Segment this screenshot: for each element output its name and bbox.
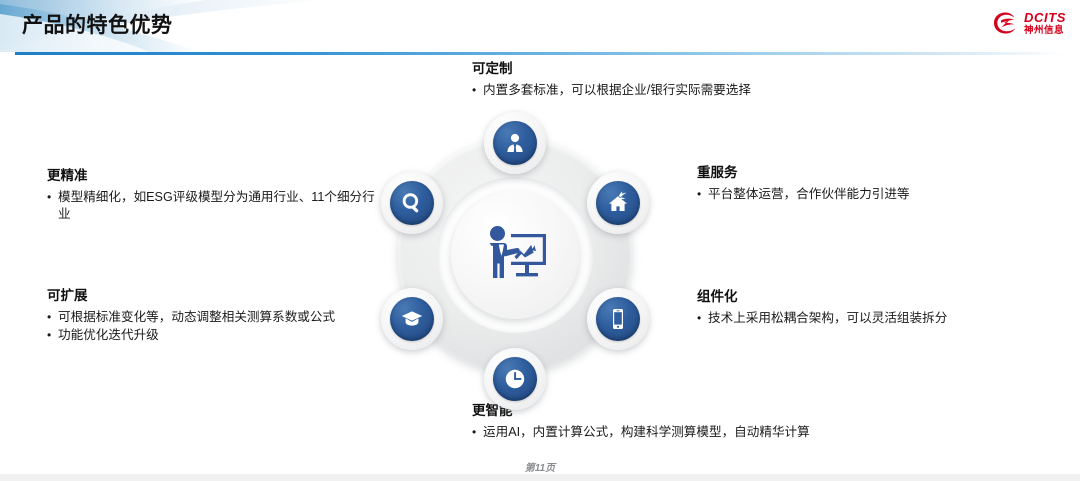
page-number: 第11页 xyxy=(0,459,1080,474)
feature-bullet: • 运用AI，内置计算公式，构建科学测算模型，自动精华计算 xyxy=(472,424,912,442)
diagram-node-graduation[interactable] xyxy=(381,288,443,350)
feature-block-accurate: 更精准 • 模型精细化，如ESG评级模型分为通用行业、11个细分行业 xyxy=(47,167,377,224)
node-circle xyxy=(493,357,537,401)
dcits-swoosh-icon xyxy=(993,11,1019,35)
clock-icon xyxy=(503,367,527,391)
feature-bullet: • 技术上采用松耦合架构，可以灵活组装拆分 xyxy=(697,310,1007,328)
feature-bullet-text: 运用AI，内置计算公式，构建科学测算模型，自动精华计算 xyxy=(483,424,912,442)
logo-en-text: DCITS xyxy=(1024,11,1066,24)
diagram-node-search[interactable] xyxy=(381,172,443,234)
feature-bullet-text: 平台整体运营，合作伙伴能力引进等 xyxy=(708,186,987,204)
diagram-center-hub xyxy=(451,191,579,319)
feature-title: 组件化 xyxy=(697,288,1007,306)
company-logo: DCITS 神州信息 xyxy=(993,8,1066,38)
feature-title: 更精准 xyxy=(47,167,377,185)
feature-title: 可扩展 xyxy=(47,287,377,305)
feature-title: 更智能 xyxy=(472,402,912,420)
feature-block-smart: 更智能 • 运用AI，内置计算公式，构建科学测算模型，自动精华计算 xyxy=(472,402,912,441)
footer-band xyxy=(0,474,1080,481)
feature-bullet: • 功能优化迭代升级 xyxy=(47,327,377,345)
node-circle xyxy=(596,297,640,341)
slide-header: 产品的特色优势 DCITS 神州信息 xyxy=(0,0,1080,58)
node-circle xyxy=(596,181,640,225)
page-title: 产品的特色优势 xyxy=(22,9,173,39)
diagram-node-clock[interactable] xyxy=(484,348,546,410)
header-divider xyxy=(15,52,1065,55)
smartphone-icon xyxy=(606,307,630,331)
node-circle xyxy=(493,121,537,165)
bullet-marker-icon: • xyxy=(47,327,58,344)
magnifier-icon xyxy=(400,191,424,215)
feature-bullet: • 平台整体运营，合作伙伴能力引进等 xyxy=(697,186,987,204)
diagram-node-home[interactable] xyxy=(587,172,649,234)
feature-bullet: • 内置多套标准，可以根据企业/银行实际需要选择 xyxy=(472,82,892,100)
diagram-node-person[interactable] xyxy=(484,112,546,174)
feature-bullet-text: 内置多套标准，可以根据企业/银行实际需要选择 xyxy=(483,82,892,100)
feature-bullet-text: 功能优化迭代升级 xyxy=(58,327,377,345)
feature-title: 重服务 xyxy=(697,164,987,182)
bullet-marker-icon: • xyxy=(472,424,483,441)
feature-bullet: • 模型精细化，如ESG评级模型分为通用行业、11个细分行业 xyxy=(47,189,377,225)
bullet-marker-icon: • xyxy=(47,189,58,206)
feature-bullet-text: 模型精细化，如ESG评级模型分为通用行业、11个细分行业 xyxy=(58,189,377,225)
feature-bullet-text: 技术上采用松耦合架构，可以灵活组装拆分 xyxy=(708,310,1007,328)
feature-block-service: 重服务 • 平台整体运营，合作伙伴能力引进等 xyxy=(697,164,987,203)
feature-bullet: • 可根据标准变化等，动态调整相关测算系数或公式 xyxy=(47,309,377,327)
node-circle xyxy=(390,181,434,225)
feature-bullet-text: 可根据标准变化等，动态调整相关测算系数或公式 xyxy=(58,309,377,327)
feature-block-extensible: 可扩展 • 可根据标准变化等，动态调整相关测算系数或公式 • 功能优化迭代升级 xyxy=(47,287,377,345)
node-circle xyxy=(390,297,434,341)
graduation-cap-icon xyxy=(400,307,424,331)
feature-block-modular: 组件化 • 技术上采用松耦合架构，可以灵活组装拆分 xyxy=(697,288,1007,327)
bullet-marker-icon: • xyxy=(47,309,58,326)
feature-block-customizable: 可定制 • 内置多套标准，可以根据企业/银行实际需要选择 xyxy=(472,60,892,99)
bullet-marker-icon: • xyxy=(697,186,708,203)
bullet-marker-icon: • xyxy=(697,310,708,327)
logo-text: DCITS 神州信息 xyxy=(1024,11,1066,36)
home-icon xyxy=(606,191,630,215)
presenter-chart-icon xyxy=(478,218,552,292)
feature-wheel-diagram xyxy=(371,111,659,399)
logo-cn-text: 神州信息 xyxy=(1024,26,1066,36)
bullet-marker-icon: • xyxy=(472,82,483,99)
diagram-node-phone[interactable] xyxy=(587,288,649,350)
feature-title: 可定制 xyxy=(472,60,892,78)
person-user-icon xyxy=(503,131,527,155)
